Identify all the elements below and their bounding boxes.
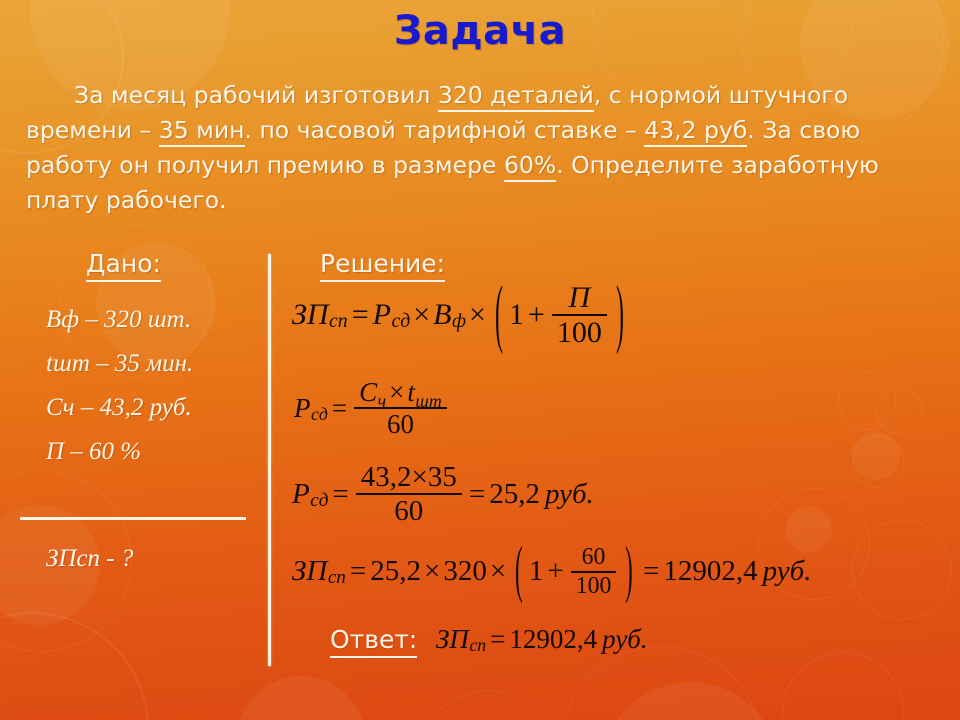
formula-piece-rate-numeric: Рсд = 43,2×35 60 = 25,2 руб. <box>292 462 594 526</box>
f5-lhs: ЗП <box>436 624 469 655</box>
f4-fraction-denominator: 100 <box>571 574 617 599</box>
f2-num-time-sub: шт <box>415 391 441 411</box>
f2-lhs: Р <box>294 393 311 424</box>
f2-num-rate-sub: ч <box>378 391 387 411</box>
given-item-output: Вф – 320 шт. <box>46 298 261 342</box>
statement-highlight-rate: 43,2 руб <box>644 116 747 147</box>
given-header: Дано: <box>86 249 161 278</box>
f4-fraction: 60 100 <box>571 545 617 598</box>
f3-lhs-sub: сд <box>310 490 328 512</box>
f1-times-2: × <box>469 298 486 332</box>
f1-lhs: ЗП <box>292 298 329 332</box>
bubble-ring-icon <box>852 520 952 620</box>
f2-lhs-sub: сд <box>311 404 328 425</box>
given-item-bonus: П – 60 % <box>46 430 261 474</box>
statement-part-1: За месяц рабочий изготовил <box>74 81 438 109</box>
statement-highlight-quantity: 320 деталей <box>438 81 594 112</box>
f1-term2-sub: ф <box>452 310 466 333</box>
f4-lhs: ЗП <box>292 555 327 588</box>
formula-wage-numeric: ЗПсп = 25,2 × 320 × ( 1 + 60 100 ) = 129… <box>292 545 812 598</box>
given-header-label: Дано: <box>86 249 161 282</box>
solution-header-label: Решение: <box>320 249 445 282</box>
bubble-ring-icon <box>782 652 904 720</box>
bubble-ring-icon <box>838 372 896 430</box>
formula-answer: ЗПсп = 12902,4 руб. <box>436 624 648 655</box>
given-item-rate: Сч – 43,2 руб. <box>46 386 261 430</box>
f4-result-value: 12902,4 <box>663 555 757 588</box>
f1-term1-sub: сд <box>391 310 410 333</box>
f4-one: 1 <box>529 555 544 588</box>
vertical-divider <box>268 254 271 666</box>
f1-paren-open: ( <box>495 272 503 359</box>
f3-fraction: 43,2×35 60 <box>356 462 462 526</box>
f2-num-time: t <box>407 377 415 407</box>
f3-result-unit: руб. <box>545 478 594 511</box>
f4-times-1: × <box>424 555 440 588</box>
f1-equals: = <box>352 298 369 332</box>
horizontal-divider <box>20 517 246 520</box>
f3-fraction-denominator: 60 <box>389 496 428 526</box>
f2-num-rate: С <box>359 377 377 407</box>
f1-lhs-sub: сп <box>329 310 348 333</box>
f3-fraction-numerator: 43,2×35 <box>356 462 462 492</box>
f4-fraction-numerator: 60 <box>577 545 611 570</box>
f3-equals-1: = <box>332 478 348 511</box>
f4-result-unit: руб. <box>763 555 812 588</box>
bubble-fill-icon <box>852 432 900 480</box>
unknown-quantity: ЗПсп - ? <box>46 545 133 573</box>
problem-statement: За месяц рабочий изготовил 320 деталей, … <box>26 78 938 218</box>
f3-equals-2: = <box>469 478 485 511</box>
bubble-fill-icon <box>236 676 366 720</box>
formula-piece-rate-general: Рсд = Сч×tшт 60 <box>294 378 450 438</box>
f1-fraction: П 100 <box>552 282 607 348</box>
f1-times-1: × <box>413 298 430 332</box>
statement-highlight-bonus: 60% <box>504 151 556 182</box>
f4-plus: + <box>547 555 563 588</box>
f1-term2: В <box>433 298 451 332</box>
f5-result-unit: руб. <box>602 624 647 655</box>
f2-fraction-denominator: 60 <box>382 410 419 438</box>
f1-term1: Р <box>373 298 391 332</box>
f3-result-value: 25,2 <box>489 478 540 511</box>
answer-label: Ответ: <box>330 625 417 654</box>
bubble-fill-icon <box>600 682 780 720</box>
f4-equals-2: = <box>643 555 659 588</box>
f2-fraction-numerator: Сч×tшт <box>354 378 447 406</box>
f4-factor-rate: 25,2 <box>370 555 421 588</box>
bubble-ring-icon <box>414 690 566 720</box>
f2-times: × <box>389 377 404 407</box>
bubble-ring-icon <box>876 388 922 434</box>
f1-plus: + <box>528 298 545 332</box>
f1-one: 1 <box>509 298 524 332</box>
f4-lhs-sub: сп <box>328 567 346 589</box>
formula-wage-general: ЗПсп = Рсд × Вф × ( 1 + П 100 ) <box>292 282 630 348</box>
f1-fraction-denominator: 100 <box>552 317 607 348</box>
f5-equals: = <box>490 624 505 655</box>
f1-paren-close: ) <box>616 272 624 359</box>
f4-equals-1: = <box>350 555 366 588</box>
f2-equals: = <box>332 393 347 424</box>
f4-paren-close: ) <box>625 535 633 608</box>
f1-fraction-numerator: П <box>564 282 596 313</box>
f2-fraction: Сч×tшт 60 <box>354 378 447 438</box>
f4-factor-output: 320 <box>443 555 487 588</box>
bubble-ring-icon <box>852 436 904 488</box>
slide-canvas: Задача За месяц рабочий изготовил 320 де… <box>0 0 960 720</box>
f5-lhs-sub: сп <box>469 635 486 656</box>
bubble-ring-icon <box>0 612 149 720</box>
solution-header: Решение: <box>320 249 445 278</box>
f3-lhs: Р <box>292 478 310 511</box>
given-item-time: tшт – 35 мин. <box>46 342 261 386</box>
given-list: Вф – 320 шт. tшт – 35 мин. Сч – 43,2 руб… <box>46 298 261 474</box>
page-title: Задача <box>0 8 960 54</box>
statement-part-3: . по часовой тарифной ставке – <box>245 116 645 144</box>
statement-highlight-time: 35 мин <box>159 116 245 147</box>
f5-result-value: 12902,4 <box>509 624 597 655</box>
bubble-ring-icon <box>560 646 762 720</box>
f4-times-2: × <box>490 555 506 588</box>
answer-label-text: Ответ: <box>330 625 417 658</box>
f4-paren-open: ( <box>515 535 523 608</box>
